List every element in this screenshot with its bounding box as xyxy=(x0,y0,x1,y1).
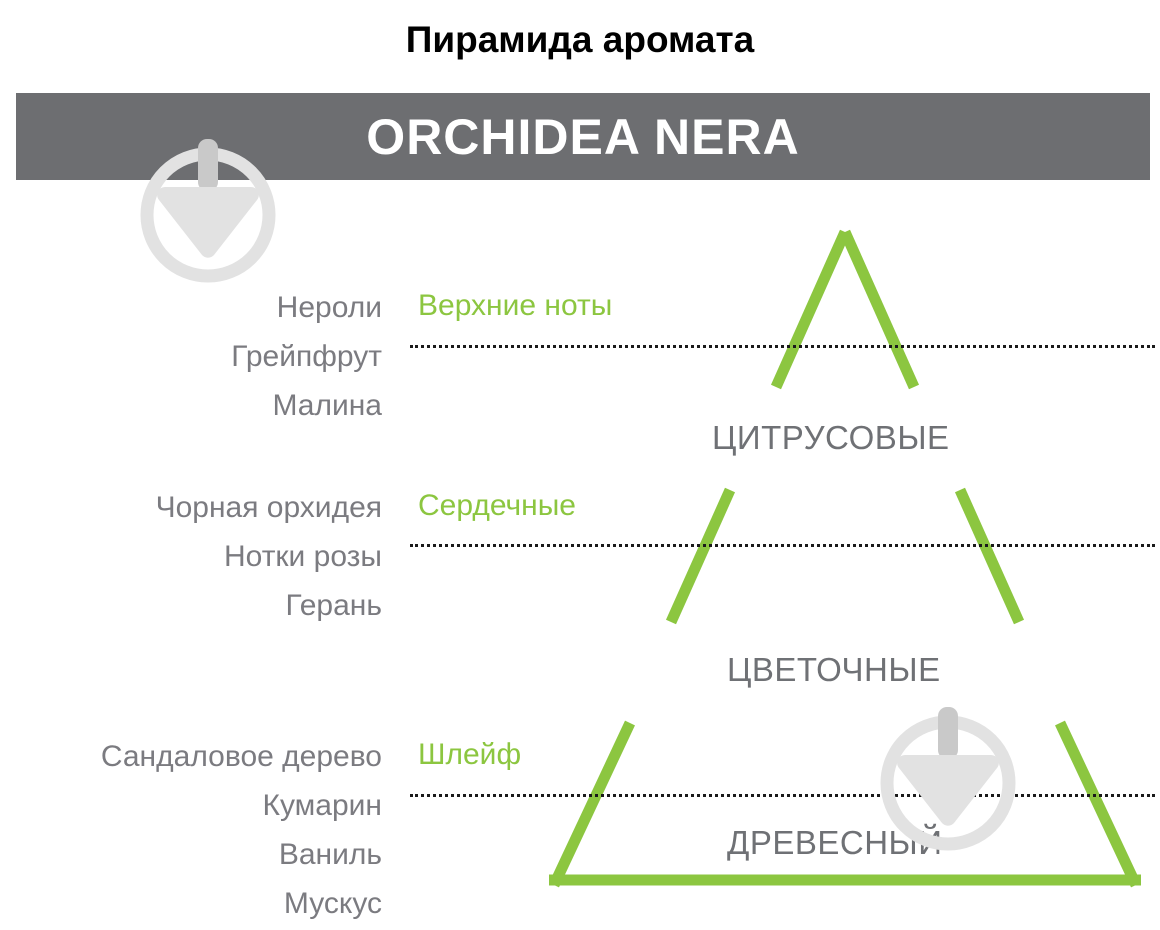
brand-banner: ORCHIDEA NERA xyxy=(16,93,1150,180)
note-item: Грейпфрут xyxy=(231,332,382,381)
brand-name: ORCHIDEA NERA xyxy=(16,93,1150,180)
note-item: Мускус xyxy=(101,879,382,928)
separator-rule-heart xyxy=(410,544,1155,547)
note-item: Кумарин xyxy=(101,781,382,830)
pyramid-top-segment xyxy=(776,232,914,387)
pyramid-heart-segment xyxy=(671,490,1019,622)
stage-label-top: Верхние ноты xyxy=(418,287,612,325)
stage-label-heart: Сердечные xyxy=(418,487,576,525)
note-item: Чорная орхидея xyxy=(156,483,382,532)
family-label-floral: ЦВЕТОЧНЫЕ xyxy=(727,650,941,690)
note-item: Нероли xyxy=(231,283,382,332)
note-item: Сандаловое дерево xyxy=(101,732,382,781)
family-label-woody: ДРЕВЕСНЫЙ xyxy=(727,823,943,863)
note-list-heart: Чорная орхидея Нотки розы Герань xyxy=(156,483,382,630)
note-list-base: Сандаловое дерево Кумарин Ваниль Мускус xyxy=(101,732,382,928)
page-title: Пирамида аромата xyxy=(0,18,1160,62)
separator-rule-base xyxy=(410,794,1155,797)
note-item: Нотки розы xyxy=(156,532,382,581)
note-item: Ваниль xyxy=(101,830,382,879)
family-label-citrus: ЦИТРУСОВЫЕ xyxy=(712,418,950,458)
note-item: Малина xyxy=(231,381,382,430)
note-list-top: Нероли Грейпфрут Малина xyxy=(231,283,382,430)
stage-label-base: Шлейф xyxy=(418,736,521,774)
separator-rule-top xyxy=(410,345,1155,348)
note-item: Герань xyxy=(156,581,382,630)
